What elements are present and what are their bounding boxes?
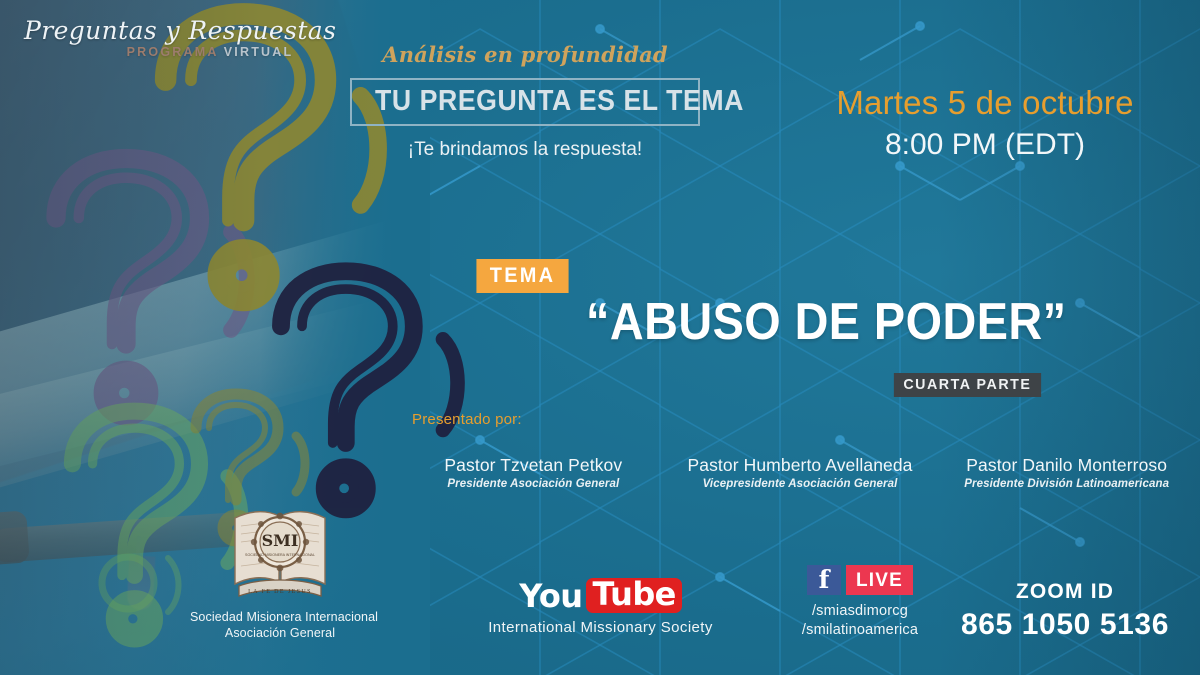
program-script-title: Preguntas y Respuestas (24, 18, 324, 43)
headline-subline: ¡Te brindamos la respuesta! (350, 139, 700, 161)
youtube-logo-icon[interactable]: You Tube (519, 578, 682, 613)
facebook-live-label: LIVE (846, 565, 913, 595)
topic-part-badge: CUARTA PARTE (894, 373, 1041, 397)
presenters-list: Pastor Tzvetan Petkov Presidente Asociac… (400, 455, 1200, 490)
presenter-item: Pastor Danilo Monterroso Presidente Divi… (933, 455, 1200, 490)
facebook-live-badge[interactable]: f LIVE (807, 565, 913, 595)
youtube-logo-you: You (519, 580, 582, 612)
event-poster: Preguntas y Respuestas PROGRAMA VIRTUAL … (0, 0, 1200, 675)
headline-title-box: TU PREGUNTA ES EL TEMA (350, 78, 700, 126)
presenter-role: Vicepresidente Asociación General (667, 478, 934, 490)
presenter-name: Pastor Danilo Monterroso (933, 455, 1200, 476)
presenter-name: Pastor Tzvetan Petkov (400, 455, 667, 476)
facebook-f-icon: f (807, 565, 841, 595)
presenter-item: Pastor Humberto Avellaneda Vicepresident… (667, 455, 934, 490)
youtube-logo-tube: Tube (586, 578, 681, 613)
headline-kicker: Análisis en profundidad (350, 42, 700, 67)
schedule-block: Martes 5 de octubre 8:00 PM (EDT) (790, 84, 1180, 162)
presenters-label: Presentado por: (412, 411, 522, 428)
event-time: 8:00 PM (EDT) (790, 128, 1180, 162)
svg-text:SOCIEDAD MISIONERA INTERNACION: SOCIEDAD MISIONERA INTERNACIONAL (245, 553, 315, 557)
smi-initials: SMI (262, 531, 299, 550)
program-subtitle-part2: VIRTUAL (224, 45, 294, 59)
program-subtitle-part1: PROGRAMA (127, 45, 224, 59)
headline-title: TU PREGUNTA ES EL TEMA (375, 87, 675, 116)
youtube-block[interactable]: You Tube International Missionary Societ… (463, 578, 738, 636)
smi-emblem-icon: SMI SOCIEDAD MISIONERA INTERNACIONAL LA … (225, 498, 335, 606)
organization-name-line1: Sociedad Misionera Internacional (190, 610, 370, 626)
organization-logo-block: SMI SOCIEDAD MISIONERA INTERNACIONAL LA … (190, 498, 370, 641)
presenter-role: Presidente Asociación General (400, 478, 667, 490)
topic-badge: TEMA (476, 259, 568, 293)
smi-motto: LA FE DE JESUS (248, 589, 312, 595)
youtube-channel-name: International Missionary Society (463, 619, 738, 636)
topic-title: “ABUSO DE PODER” (586, 296, 1054, 348)
program-subtitle: PROGRAMA VIRTUAL (96, 46, 324, 59)
zoom-id-value: 865 1050 5136 (940, 608, 1190, 642)
organization-name-line2: Asociación General (190, 626, 370, 642)
program-brand: Preguntas y Respuestas PROGRAMA VIRTUAL (24, 18, 324, 59)
zoom-id-label: ZOOM ID (940, 580, 1190, 604)
zoom-block: ZOOM ID 865 1050 5136 (940, 580, 1190, 642)
headline-block: Análisis en profundidad TU PREGUNTA ES E… (350, 42, 700, 161)
event-date: Martes 5 de octubre (790, 84, 1180, 122)
presenter-role: Presidente División Latinoamericana (933, 478, 1200, 490)
presenter-item: Pastor Tzvetan Petkov Presidente Asociac… (400, 455, 667, 490)
presenter-name: Pastor Humberto Avellaneda (667, 455, 934, 476)
